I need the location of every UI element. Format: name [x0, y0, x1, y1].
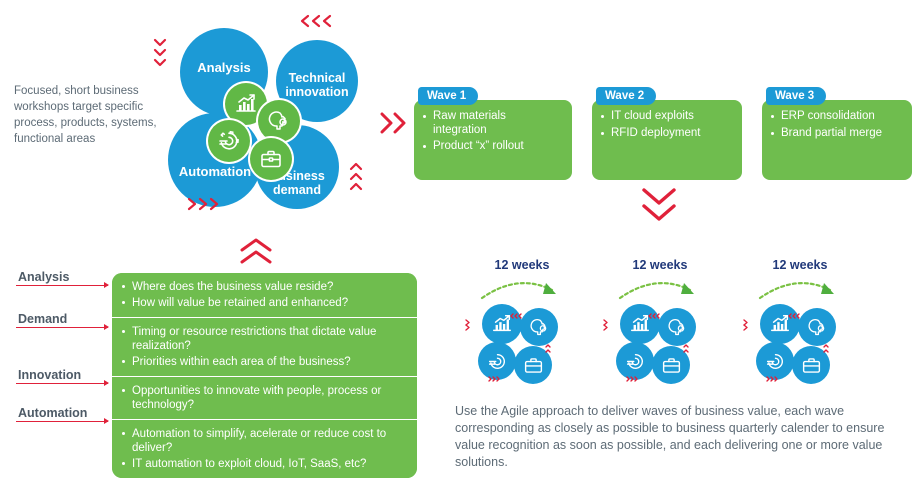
list-item: IT automation to exploit cloud, IoT, Saa…	[121, 457, 408, 471]
agile-summary-paragraph: Use the Agile approach to deliver waves …	[455, 403, 885, 471]
dashed-arc-arrow-icon	[740, 276, 860, 302]
weeks-group-1-title: 12 weeks	[462, 258, 582, 272]
arrow-right-analysis-icon	[16, 285, 108, 286]
dashed-arc-arrow-icon	[462, 276, 582, 302]
briefcase-business-icon	[250, 138, 292, 180]
chevron-right-decor-weeks2	[601, 318, 610, 337]
chevron-right-decor-bottom	[183, 196, 225, 217]
workshop-label-analysis: Analysis	[16, 270, 108, 286]
circle-analysis-label: Analysis	[197, 61, 250, 75]
list-item: Opportunities to innovate with people, p…	[121, 384, 408, 412]
circle-technical-innovation-label: Technical innovation	[276, 71, 358, 99]
workshop-label-demand-text: Demand	[16, 312, 108, 326]
wave-3-body: ERP consolidation Brand partial merge	[762, 100, 912, 180]
chevron-up-decor-weeks1	[544, 341, 552, 361]
list-item: RFID deployment	[600, 127, 732, 141]
wave-card-2[interactable]: Wave 2 IT cloud exploits RFID deployment	[592, 86, 742, 180]
chevron-right-decor-weeks2-bottom	[624, 370, 640, 388]
wave-1-body: Raw materials integration Product “x” ro…	[414, 100, 572, 180]
arrow-right-automation-icon	[16, 421, 108, 422]
chevron-right-decor-weeks1	[463, 318, 472, 337]
chevron-right-decor-weeks1-bottom	[486, 370, 502, 388]
head-gear-innovation-icon	[520, 308, 558, 346]
list-item: Automation to simplify, acelerate or red…	[121, 427, 408, 455]
list-item: Raw materials integration	[422, 110, 562, 137]
chevron-down-flow-icon	[636, 184, 682, 231]
list-item: Where does the business value reside?	[121, 280, 408, 294]
chevron-right-decor-weeks3	[741, 318, 750, 337]
arrow-right-demand-icon	[16, 327, 108, 328]
wave-2-body: IT cloud exploits RFID deployment	[592, 100, 742, 180]
weeks-group-2-title: 12 weeks	[600, 258, 720, 272]
list-item: IT cloud exploits	[600, 110, 732, 124]
head-gear-innovation-icon	[798, 308, 836, 346]
chevron-left-decor-weeks3	[786, 307, 802, 325]
chevron-up-flow-icon	[236, 236, 276, 273]
question-block-analysis: Where does the business value reside? Ho…	[112, 273, 417, 318]
chevron-up-decor-weeks3	[822, 341, 830, 361]
head-gear-innovation-icon	[258, 100, 300, 142]
list-item: Product “x” rollout	[422, 140, 562, 154]
chevron-right-flow-icon	[376, 106, 410, 145]
chevron-up-decor-weeks2	[682, 341, 690, 361]
question-block-innovation: Opportunities to innovate with people, p…	[112, 377, 417, 420]
workshop-label-analysis-text: Analysis	[16, 270, 108, 284]
chevron-left-decor-weeks1	[508, 307, 524, 325]
gear-automation-icon	[208, 120, 250, 162]
question-block-automation: Automation to simplify, acelerate or red…	[112, 420, 417, 478]
chevron-left-decor-top	[296, 13, 338, 34]
wave-card-3[interactable]: Wave 3 ERP consolidation Brand partial m…	[762, 86, 912, 180]
list-item: Priorities within each area of the busin…	[121, 355, 408, 369]
chevron-up-decor-right	[348, 160, 364, 201]
wave-3-tab[interactable]: Wave 3	[766, 87, 826, 105]
weeks-group-3-title: 12 weeks	[740, 258, 860, 272]
wave-1-tab[interactable]: Wave 1	[418, 87, 478, 105]
wave-card-1[interactable]: Wave 1 Raw materials integration Product…	[414, 86, 572, 180]
workshop-label-automation-text: Automation	[16, 406, 108, 420]
workshop-label-demand: Demand	[16, 312, 108, 328]
list-item: Brand partial merge	[770, 127, 902, 141]
chevron-down-decor-left	[152, 36, 168, 75]
list-item: How will value be retained and enhanced?	[121, 296, 408, 310]
workshop-questions-panel: Where does the business value reside? Ho…	[112, 273, 417, 478]
head-gear-innovation-icon	[658, 308, 696, 346]
dashed-arc-arrow-icon	[600, 276, 720, 302]
wave-2-tab[interactable]: Wave 2	[596, 87, 656, 105]
chevron-left-decor-weeks2	[646, 307, 662, 325]
workshop-label-innovation-text: Innovation	[16, 368, 108, 382]
workshop-label-innovation: Innovation	[16, 368, 108, 384]
list-item: Timing or resource restrictions that dic…	[121, 325, 408, 353]
list-item: ERP consolidation	[770, 110, 902, 124]
question-block-demand: Timing or resource restrictions that dic…	[112, 318, 417, 377]
workshop-label-automation: Automation	[16, 406, 108, 422]
chevron-right-decor-weeks3-bottom	[764, 370, 780, 388]
arrow-right-innovation-icon	[16, 383, 108, 384]
circle-automation-label: Automation	[179, 165, 251, 179]
